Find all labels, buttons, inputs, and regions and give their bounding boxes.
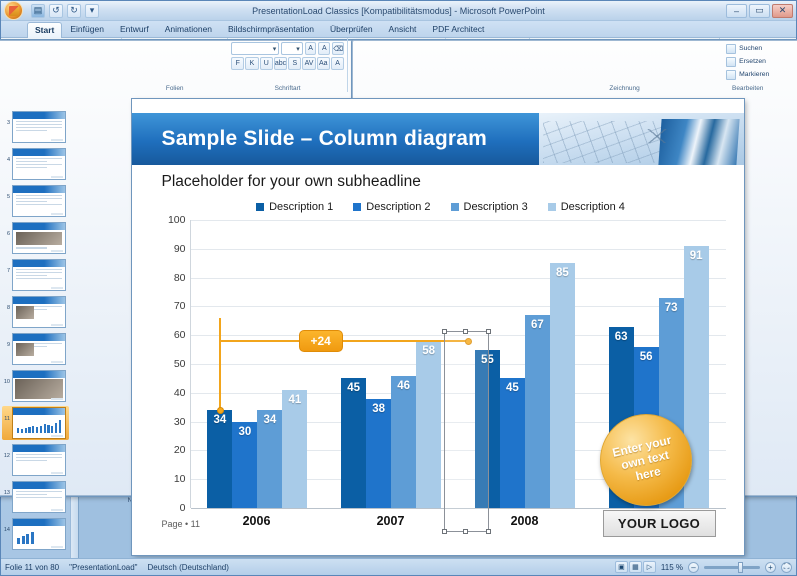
window-title: PresentationLoad Classics [Kompatibilitä…	[1, 6, 796, 16]
slide-thumbnail[interactable]	[12, 222, 66, 254]
tab-start[interactable]: Start	[27, 22, 62, 38]
page-footer: Page • 11	[162, 519, 201, 529]
bar-value: 38	[366, 403, 391, 415]
y-axis: 100 90 80 70 60 50 40 30 20 10 0	[156, 220, 190, 508]
list-item[interactable]: 9	[2, 332, 69, 366]
slide-thumbnail[interactable]	[12, 111, 66, 143]
legend-swatch	[256, 203, 264, 211]
thumb-number: 9	[3, 333, 10, 348]
title-bar: ▤ ↺ ↻ ▾ PresentationLoad Classics [Kompa…	[1, 1, 796, 21]
chart-legend: Description 1 Description 2 Description …	[156, 201, 726, 213]
y-tick: 40	[174, 387, 186, 399]
badge-text: Enter your own text here	[612, 433, 680, 487]
window-controls: – ▭ ✕	[726, 4, 796, 18]
tab-bildschirmpraesentation[interactable]: Bildschirmpräsentation	[220, 21, 322, 37]
bar-2006-description-1[interactable]: 34	[207, 410, 232, 508]
slide-thumbnail[interactable]	[12, 259, 66, 291]
strikethrough-icon[interactable]: abc	[274, 57, 287, 70]
bar-value: 85	[550, 267, 575, 279]
list-item[interactable]: 4	[2, 147, 69, 181]
column-chart[interactable]: Description 1 Description 2 Description …	[156, 201, 726, 495]
thumbnail-pane: Folien Gliederung ✕ 3 4	[1, 93, 79, 558]
work-area: Folien Gliederung ✕ 3 4	[1, 93, 796, 558]
slide-thumbnail[interactable]	[12, 444, 66, 476]
list-item[interactable]: 14	[2, 517, 69, 551]
bar-value: 91	[684, 250, 709, 262]
legend-item: Description 4	[548, 201, 625, 213]
bar-value: 34	[257, 414, 282, 426]
font-name-select[interactable]: ▾	[231, 42, 279, 55]
zoom-out-button[interactable]: –	[688, 562, 699, 573]
view-buttons: ▣ ▦ ▷	[615, 561, 656, 573]
thumb-number: 3	[3, 111, 10, 126]
ribbon-tabs: Start Einfügen Entwurf Animationen Bilds…	[1, 21, 796, 38]
list-item[interactable]: 6	[2, 221, 69, 255]
legend-swatch	[353, 203, 361, 211]
quick-access-toolbar: ▤ ↺ ↻ ▾	[31, 4, 99, 18]
bar-value: 58	[416, 345, 441, 357]
tab-animationen[interactable]: Animationen	[157, 21, 220, 37]
bar-2007-description-4[interactable]: 58	[416, 341, 441, 508]
save-icon[interactable]: ▤	[31, 4, 45, 18]
legend-swatch	[451, 203, 459, 211]
bar-value: 63	[609, 331, 634, 343]
selection-box[interactable]	[444, 331, 489, 532]
search-icon	[726, 44, 736, 54]
ribbon-group-editing: Suchen Ersetzen Markieren Bearbeiten	[720, 38, 775, 92]
bar-value: 34	[207, 414, 232, 426]
y-tick: 20	[174, 444, 186, 456]
ribbon-group-slides: Neue Folie Layout Zurücksetzen Löschen	[122, 38, 228, 92]
slide-thumbnail[interactable]	[12, 185, 66, 217]
y-tick: 70	[174, 300, 186, 312]
underline-icon[interactable]: U	[260, 57, 273, 70]
redo-icon[interactable]: ↻	[67, 4, 81, 18]
slide-thumbnail[interactable]	[12, 370, 66, 402]
subheadline[interactable]: Placeholder for your own subheadline	[162, 173, 421, 191]
thumb-number: 4	[3, 148, 10, 163]
shadow-icon[interactable]: S	[288, 57, 301, 70]
slide-editing-area[interactable]: Sample Slide – Column diagram Placeholde…	[79, 93, 796, 558]
y-tick: 30	[174, 416, 186, 428]
minimize-button[interactable]: –	[726, 4, 747, 18]
thumb-number: 5	[3, 185, 10, 200]
drawing-group-title: Zeichnung	[530, 85, 719, 92]
header-image	[539, 113, 744, 165]
bar-2007-description-2[interactable]: 38	[366, 399, 391, 508]
bar-value: 73	[659, 302, 684, 314]
slide-thumbnail[interactable]	[12, 333, 66, 365]
thumb-number: 11	[3, 407, 10, 422]
y-tick: 100	[168, 214, 186, 226]
blueprint-graphic	[543, 121, 661, 163]
bar-value: 30	[232, 426, 257, 438]
status-right: ▣ ▦ ▷ 115 % – + ⛶	[615, 561, 792, 573]
thumb-number: 10	[3, 370, 10, 385]
list-item[interactable]: 8	[2, 295, 69, 329]
slide-sorter-view-icon[interactable]: ▦	[629, 561, 642, 573]
zoom-level: 115 %	[661, 563, 683, 572]
close-button[interactable]: ✕	[772, 4, 793, 18]
bar-2008-description-3[interactable]: 67	[525, 315, 550, 508]
annotation-line-left	[219, 318, 221, 410]
slide-header: Sample Slide – Column diagram	[132, 113, 744, 165]
maximize-button[interactable]: ▭	[749, 4, 770, 18]
annotation-line-horizontal	[219, 340, 469, 342]
bar-value: 56	[634, 351, 659, 363]
legend-item: Description 2	[353, 201, 430, 213]
font-group-title: Schriftart	[228, 85, 347, 92]
bar-2006-description-3[interactable]: 34	[257, 410, 282, 508]
bar-2007-description-1[interactable]: 45	[341, 378, 366, 508]
list-item[interactable]: 3	[2, 110, 69, 144]
thumb-number: 8	[3, 296, 10, 311]
fit-to-window-button[interactable]: ⛶	[781, 562, 792, 573]
bar-value: 45	[341, 382, 366, 394]
ribbon-group-drawing: ▭ ╲ ↘ ▭ ◯ ▭ △ ⌐ ⌐ ♡ ◔ ◕	[530, 38, 720, 92]
find-button[interactable]: Suchen	[723, 43, 772, 55]
slide-canvas[interactable]: Sample Slide – Column diagram Placeholde…	[132, 99, 744, 555]
bar-2008-description-2[interactable]: 45	[500, 378, 525, 508]
clear-format-icon[interactable]: ⌫	[332, 42, 344, 55]
legend-label: Description 3	[464, 201, 528, 213]
bar-2007-description-3[interactable]: 46	[391, 376, 416, 508]
slides-group-title: Folien	[122, 85, 227, 92]
customize-qat-icon[interactable]: ▾	[85, 4, 99, 18]
normal-view-icon[interactable]: ▣	[615, 561, 628, 573]
y-tick: 0	[180, 502, 186, 514]
thumb-number: 14	[3, 518, 10, 533]
y-tick: 80	[174, 272, 186, 284]
powerpoint-window: ▤ ↺ ↻ ▾ PresentationLoad Classics [Kompa…	[0, 0, 797, 576]
bar-value: 45	[500, 382, 525, 394]
list-item[interactable]: 13	[2, 480, 69, 514]
list-item[interactable]: 10	[2, 369, 69, 403]
tab-einfuegen[interactable]: Einfügen	[62, 21, 112, 37]
font-color-icon[interactable]: A	[331, 57, 344, 70]
find-label: Suchen	[739, 45, 762, 52]
logo-placeholder[interactable]: YOUR LOGO	[603, 510, 716, 537]
thumb-number: 13	[3, 481, 10, 496]
language-indicator[interactable]: Deutsch (Deutschland)	[148, 563, 229, 572]
tab-ansicht[interactable]: Ansicht	[381, 21, 425, 37]
x-tick: 2006	[190, 508, 324, 528]
legend-item: Description 3	[451, 201, 528, 213]
legend-swatch	[548, 203, 556, 211]
theme-name: "PresentationLoad"	[69, 563, 137, 572]
replace-icon	[726, 57, 736, 67]
select-button[interactable]: Markieren	[723, 69, 772, 81]
list-item-selected[interactable]: 11	[2, 406, 69, 440]
ribbon-group-font: ▾ ▾ A A ⌫ F K U abc S AV Aa A Schriftart	[228, 38, 348, 92]
office-button[interactable]	[4, 1, 23, 20]
page-title[interactable]: Sample Slide – Column diagram	[162, 127, 488, 151]
group-2007: 45 38 46 58	[324, 220, 458, 508]
slide-thumbnail[interactable]	[12, 148, 66, 180]
italic-icon[interactable]: K	[245, 57, 258, 70]
plot: 34 30 34 41	[190, 220, 726, 508]
legend-item: Description 1	[256, 201, 333, 213]
slide-thumbnail[interactable]	[12, 407, 66, 439]
slide-thumbnail[interactable]	[12, 518, 66, 550]
list-item[interactable]: 12	[2, 443, 69, 477]
tab-ueberpruefen[interactable]: Überprüfen	[322, 21, 381, 37]
slide-counter: Folie 11 von 80	[5, 563, 59, 572]
slide-thumbnail-list[interactable]: 3 4 5	[1, 108, 70, 558]
building-graphic	[658, 119, 739, 165]
shrink-font-icon[interactable]: A	[318, 42, 330, 55]
bird-graphic	[647, 129, 667, 143]
change-case-icon[interactable]: Aa	[317, 57, 330, 70]
zoom-slider[interactable]	[704, 566, 760, 569]
bar-value: 41	[282, 394, 307, 406]
legend-label: Description 4	[561, 201, 625, 213]
slide-thumbnail[interactable]	[12, 296, 66, 328]
select-icon	[726, 70, 736, 80]
list-item[interactable]: 7	[2, 258, 69, 292]
tab-entwurf[interactable]: Entwurf	[112, 21, 157, 37]
replace-label: Ersetzen	[739, 58, 766, 65]
y-tick: 50	[174, 358, 186, 370]
bar-2006-description-2[interactable]: 30	[232, 422, 257, 508]
annotation-badge[interactable]: +24	[299, 330, 343, 352]
replace-button[interactable]: Ersetzen	[723, 56, 772, 68]
y-tick: 10	[174, 473, 186, 485]
annotation-dot-left	[217, 407, 224, 414]
chart-plot-area: 100 90 80 70 60 50 40 30 20 10 0	[156, 220, 726, 508]
text-badge[interactable]: Enter your own text here	[600, 414, 692, 506]
select-label: Markieren	[739, 71, 769, 78]
x-tick: 2007	[324, 508, 458, 528]
slideshow-view-icon[interactable]: ▷	[643, 561, 656, 573]
thumb-number: 6	[3, 222, 10, 237]
slide-thumbnail[interactable]	[12, 481, 66, 513]
thumb-number: 12	[3, 444, 10, 459]
bold-icon[interactable]: F	[231, 57, 244, 70]
bar-value: 46	[391, 380, 416, 392]
legend-label: Description 2	[366, 201, 430, 213]
editing-group-title: Bearbeiten	[720, 85, 775, 92]
legend-label: Description 1	[269, 201, 333, 213]
font-size-select[interactable]: ▾	[281, 42, 302, 55]
thumb-number: 7	[3, 259, 10, 274]
character-spacing-icon[interactable]: AV	[302, 57, 315, 70]
tab-pdf-architect[interactable]: PDF Architect	[424, 21, 492, 37]
bar-value: 67	[525, 319, 550, 331]
undo-icon[interactable]: ↺	[49, 4, 63, 18]
bar-2008-description-4[interactable]: 85	[550, 263, 575, 508]
status-bar: Folie 11 von 80 "PresentationLoad" Deuts…	[1, 558, 796, 575]
zoom-in-button[interactable]: +	[765, 562, 776, 573]
grow-font-icon[interactable]: A	[305, 42, 317, 55]
bar-2006-description-4[interactable]: 41	[282, 390, 307, 508]
group-2006: 34 30 34 41	[191, 220, 325, 508]
slide-title-band: Sample Slide – Column diagram	[132, 113, 539, 165]
ribbon: Einfügen Ausschneiden Kopieren Format üb…	[1, 38, 796, 93]
y-tick: 90	[174, 243, 186, 255]
y-tick: 60	[174, 329, 186, 341]
list-item[interactable]: 5	[2, 184, 69, 218]
